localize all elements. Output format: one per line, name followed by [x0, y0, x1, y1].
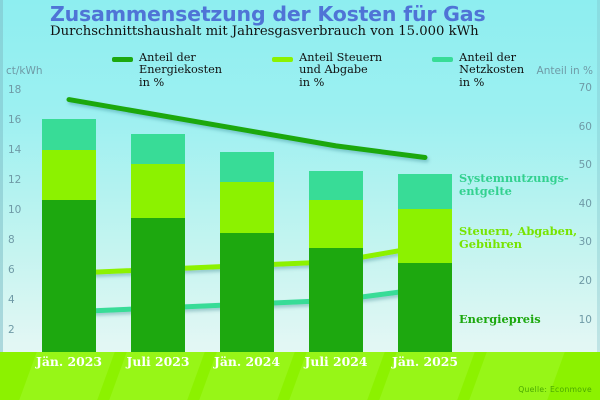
- bar-segment-energiepreis: [42, 200, 96, 361]
- source-note: Quelle: Econmove: [518, 385, 592, 394]
- bar-segment-netzkosten: [398, 174, 452, 209]
- right-axis-tick: 10: [579, 314, 592, 326]
- left-axis-tick: 6: [8, 264, 15, 276]
- left-axis-tick: 18: [8, 84, 21, 96]
- callout-netzkosten: Systemnutzungs- entgelte: [459, 172, 600, 197]
- left-axis-tick: 14: [8, 144, 21, 156]
- bar-segment-steuern: [131, 164, 185, 218]
- bar-segment-netzkosten: [42, 119, 96, 151]
- x-axis-label: Jän. 2023: [21, 354, 117, 369]
- bar-column: [309, 0, 363, 400]
- left-axis-tick: 16: [8, 114, 21, 126]
- right-axis-tick: 70: [579, 82, 592, 94]
- bar-column: [398, 0, 452, 400]
- left-axis-tick: 2: [8, 324, 15, 336]
- callout-steuern: Steuern, Abgaben, Gebühren: [459, 225, 600, 250]
- bar-segment-steuern: [398, 209, 452, 263]
- bar-column: [131, 0, 185, 400]
- x-axis-label: Jän. 2025: [377, 354, 473, 369]
- bar-segment-netzkosten: [220, 152, 274, 182]
- bar-column: [220, 0, 274, 400]
- right-axis-tick: 50: [579, 159, 592, 171]
- right-axis-tick: 40: [579, 198, 592, 210]
- x-axis-label: Juli 2023: [110, 354, 206, 369]
- bar-segment-steuern: [309, 200, 363, 248]
- bar-segment-netzkosten: [309, 171, 363, 200]
- left-axis-tick: 4: [8, 294, 15, 306]
- bar-column: [42, 0, 96, 400]
- left-axis-tick: 10: [8, 204, 21, 216]
- bar-segment-energiepreis: [309, 248, 363, 361]
- bar-segment-steuern: [220, 182, 274, 233]
- bar-segment-steuern: [42, 150, 96, 200]
- right-axis-tick: 60: [579, 121, 592, 133]
- bar-segment-energiepreis: [220, 233, 274, 361]
- chart-infographic: Zusammensetzung der Kosten für Gas Durch…: [0, 0, 600, 400]
- bar-segment-energiepreis: [398, 263, 452, 361]
- callout-energiepreis: Energiepreis: [459, 313, 541, 326]
- x-axis-label: Jän. 2024: [199, 354, 295, 369]
- bar-segment-energiepreis: [131, 218, 185, 361]
- left-axis-tick: 8: [8, 234, 15, 246]
- x-axis-label: Juli 2024: [288, 354, 384, 369]
- bar-segment-netzkosten: [131, 134, 185, 164]
- left-axis-tick: 12: [8, 174, 21, 186]
- right-axis-tick: 20: [579, 275, 592, 287]
